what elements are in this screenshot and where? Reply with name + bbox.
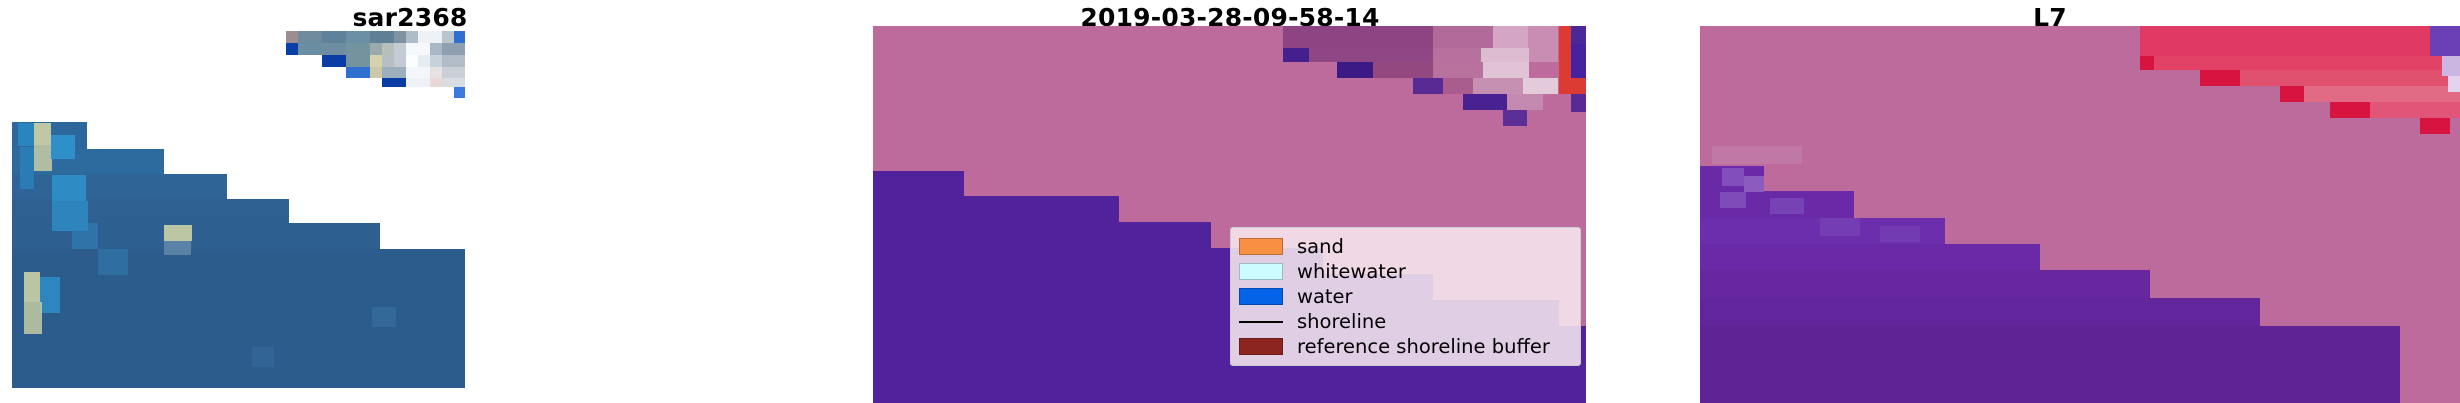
- legend-item-shoreline[interactable]: shoreline: [1239, 309, 1572, 334]
- class-mottle: [1529, 48, 1558, 62]
- l7-water-texture: [1744, 176, 1764, 192]
- class-mottle: [1463, 94, 1507, 110]
- l7-crimson: [2200, 70, 2240, 86]
- class-mottle: [1483, 62, 1529, 78]
- sand-swatch-icon: [1239, 238, 1283, 255]
- l7-water-texture: [1720, 192, 1746, 208]
- legend-box[interactable]: sand whitewater water shoreline referenc…: [1230, 227, 1581, 366]
- class-mottle: [1503, 110, 1527, 126]
- l7-crimson: [2154, 56, 2460, 70]
- reference-shoreline-buffer: [1559, 52, 1571, 76]
- figure-canvas: sar2368: [0, 0, 2460, 403]
- sar-water-pixel: [454, 87, 465, 98]
- sar-water-texture: [24, 272, 40, 302]
- sar-water-texture: [40, 277, 60, 313]
- sar-water-texture: [164, 225, 192, 241]
- l7-crimson: [2140, 26, 2460, 56]
- image-axes-l7[interactable]: [1700, 26, 2460, 403]
- l7-crimson: [2330, 102, 2370, 118]
- class-mottle: [1433, 26, 1493, 48]
- sar-water-block-6: [12, 249, 465, 388]
- legend-item-whitewater[interactable]: whitewater: [1239, 259, 1572, 284]
- class-mottle: [1571, 94, 1586, 112]
- reference-shoreline-buffer: [1559, 76, 1586, 94]
- legend-label-sand: sand: [1297, 236, 1344, 258]
- l7-water-texture: [1722, 168, 1744, 186]
- reference-shoreline-buffer: [1571, 44, 1586, 78]
- l7-water-texture: [1880, 226, 1920, 242]
- l7-crimson: [2420, 118, 2450, 134]
- sar-water-texture: [372, 307, 396, 327]
- l7-water-texture: [1712, 146, 1802, 164]
- sar-water-texture: [98, 249, 128, 275]
- class-mottle: [1433, 48, 1481, 62]
- class-mottle: [1373, 62, 1433, 78]
- sar-water-texture: [20, 147, 34, 189]
- l7-crimson: [2280, 86, 2304, 102]
- panel-classified: 2019-03-28-09-58-14: [820, 0, 1640, 403]
- panel-l7: L7: [1640, 0, 2460, 403]
- class-mottle: [1283, 26, 1433, 48]
- class-mottle: [1337, 62, 1373, 78]
- class-mottle: [1507, 94, 1543, 110]
- l7-purple-chip: [2442, 56, 2460, 76]
- l7-purple-chip: [2448, 76, 2460, 92]
- l7-crimson: [2140, 56, 2154, 70]
- l7-water-block: [1700, 326, 2400, 403]
- reference-shoreline-buffer: [1559, 26, 1571, 52]
- legend-item-reference-shoreline-buffer[interactable]: reference shoreline buffer: [1239, 334, 1572, 359]
- l7-purple-chip: [2430, 26, 2460, 56]
- l7-water-texture: [1820, 218, 1860, 236]
- sar-water-texture: [252, 347, 274, 367]
- legend-item-sand[interactable]: sand: [1239, 234, 1572, 259]
- reference-shoreline-buffer-swatch-icon: [1239, 338, 1283, 355]
- class-mottle: [1528, 26, 1558, 48]
- class-mottle: [1481, 48, 1529, 62]
- sar-water-texture: [164, 241, 191, 255]
- water-swatch-icon: [1239, 288, 1283, 305]
- class-mottle: [1523, 78, 1558, 94]
- legend-item-water[interactable]: water: [1239, 284, 1572, 309]
- class-mottle: [1413, 78, 1443, 94]
- whitewater-swatch-icon: [1239, 263, 1283, 280]
- panel-sar2368: sar2368: [0, 0, 820, 403]
- legend-label-reference-shoreline-buffer: reference shoreline buffer: [1297, 336, 1550, 358]
- l7-water-texture: [1770, 198, 1804, 214]
- l7-crimson: [2240, 70, 2460, 86]
- image-axes-sar2368[interactable]: [12, 27, 465, 388]
- legend-label-whitewater: whitewater: [1297, 261, 1406, 283]
- class-mottle: [1443, 78, 1473, 94]
- l7-crimson: [2370, 102, 2460, 118]
- class-mottle: [1309, 48, 1433, 62]
- sar-water-texture: [34, 145, 52, 171]
- sar-water-texture: [51, 135, 75, 159]
- shoreline-line-icon: [1239, 321, 1283, 323]
- class-mottle: [1433, 62, 1483, 78]
- class-mottle: [1283, 48, 1309, 62]
- class-mottle: [1493, 26, 1528, 48]
- sar-land-chip: [286, 31, 465, 87]
- sar-water-texture: [52, 175, 86, 201]
- sar-water-texture: [34, 123, 51, 145]
- reference-shoreline-buffer: [1571, 26, 1586, 44]
- sar-water-texture: [72, 223, 98, 249]
- sar-water-texture: [18, 123, 34, 146]
- class-mottle: [1473, 78, 1523, 94]
- legend-label-shoreline: shoreline: [1297, 311, 1386, 333]
- sar-water-texture: [24, 302, 42, 334]
- l7-crimson: [2304, 86, 2460, 102]
- legend-label-water: water: [1297, 286, 1353, 308]
